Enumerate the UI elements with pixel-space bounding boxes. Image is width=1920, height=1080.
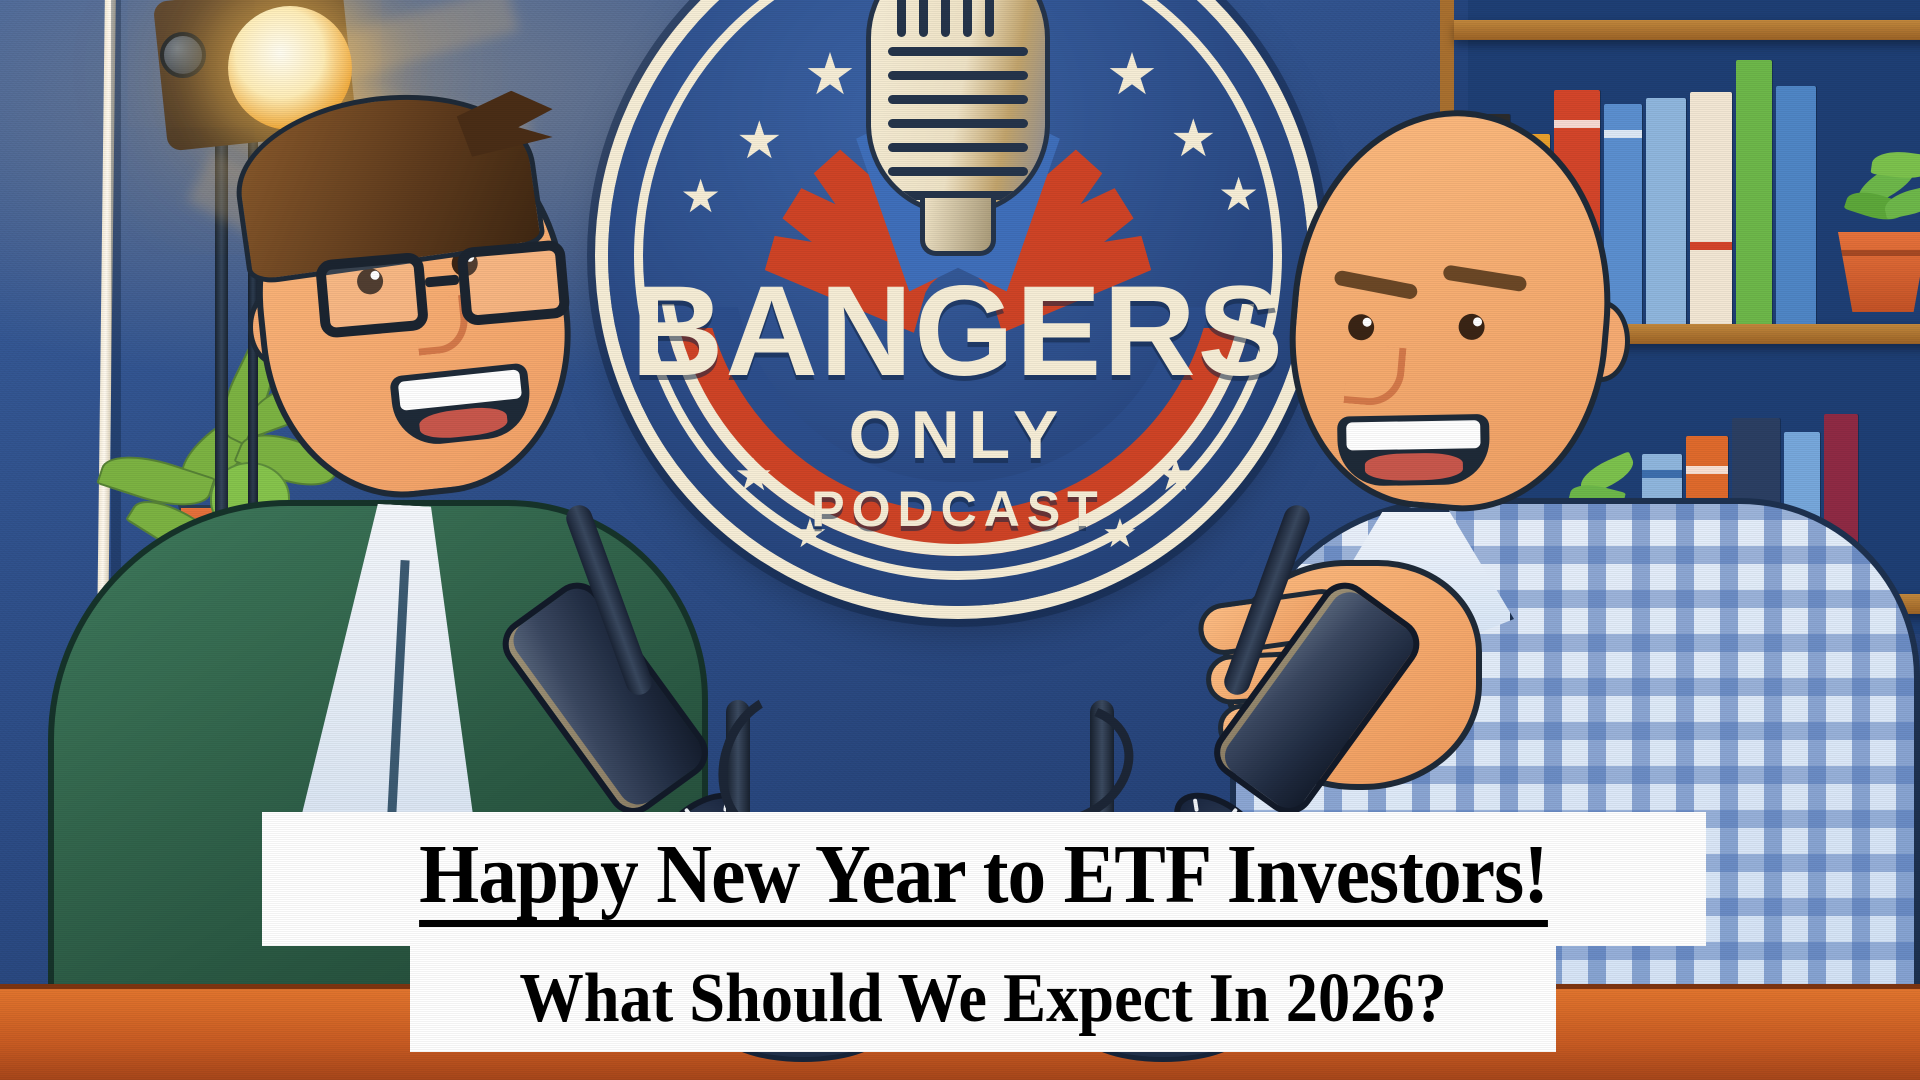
podcast-logo-badge: ★ ★ ★ ★ ★ ★ ★ ★ ★ ★ BANGERS ONLY PODCAST — [608, 0, 1308, 606]
episode-thumbnail: ★ ★ ★ ★ ★ ★ ★ ★ ★ ★ BANGERS ONLY PODCAST — [0, 0, 1920, 1080]
microphone-stem — [920, 198, 996, 256]
star-icon: ★ — [736, 116, 783, 168]
vintage-microphone-icon — [866, 0, 1050, 216]
star-icon: ★ — [1106, 46, 1158, 104]
star-icon: ★ — [1170, 114, 1217, 166]
logo-word-bangers: BANGERS — [608, 258, 1308, 405]
episode-subtitle: What Should We Expect In 2026? — [519, 963, 1446, 1036]
host-left-mouth — [389, 362, 534, 448]
star-icon: ★ — [680, 174, 721, 220]
title-banner: Happy New Year to ETF Investors! — [262, 812, 1706, 946]
star-icon: ★ — [1218, 172, 1259, 218]
host-right-eye — [1458, 313, 1486, 341]
episode-title: Happy New Year to ETF Investors! — [419, 831, 1548, 927]
subtitle-banner: What Should We Expect In 2026? — [410, 946, 1556, 1052]
logo-word-podcast: PODCAST — [608, 480, 1308, 538]
host-right-eye — [1347, 313, 1375, 341]
book — [1646, 98, 1686, 324]
logo-word-only: ONLY — [608, 396, 1308, 474]
book — [1776, 86, 1816, 324]
book — [1690, 92, 1732, 324]
potted-plant — [1838, 232, 1920, 312]
star-icon: ★ — [804, 46, 856, 104]
host-right-mouth — [1337, 414, 1490, 487]
light-knob — [160, 32, 206, 78]
book — [1736, 60, 1772, 324]
host-right-nose — [1343, 343, 1406, 408]
